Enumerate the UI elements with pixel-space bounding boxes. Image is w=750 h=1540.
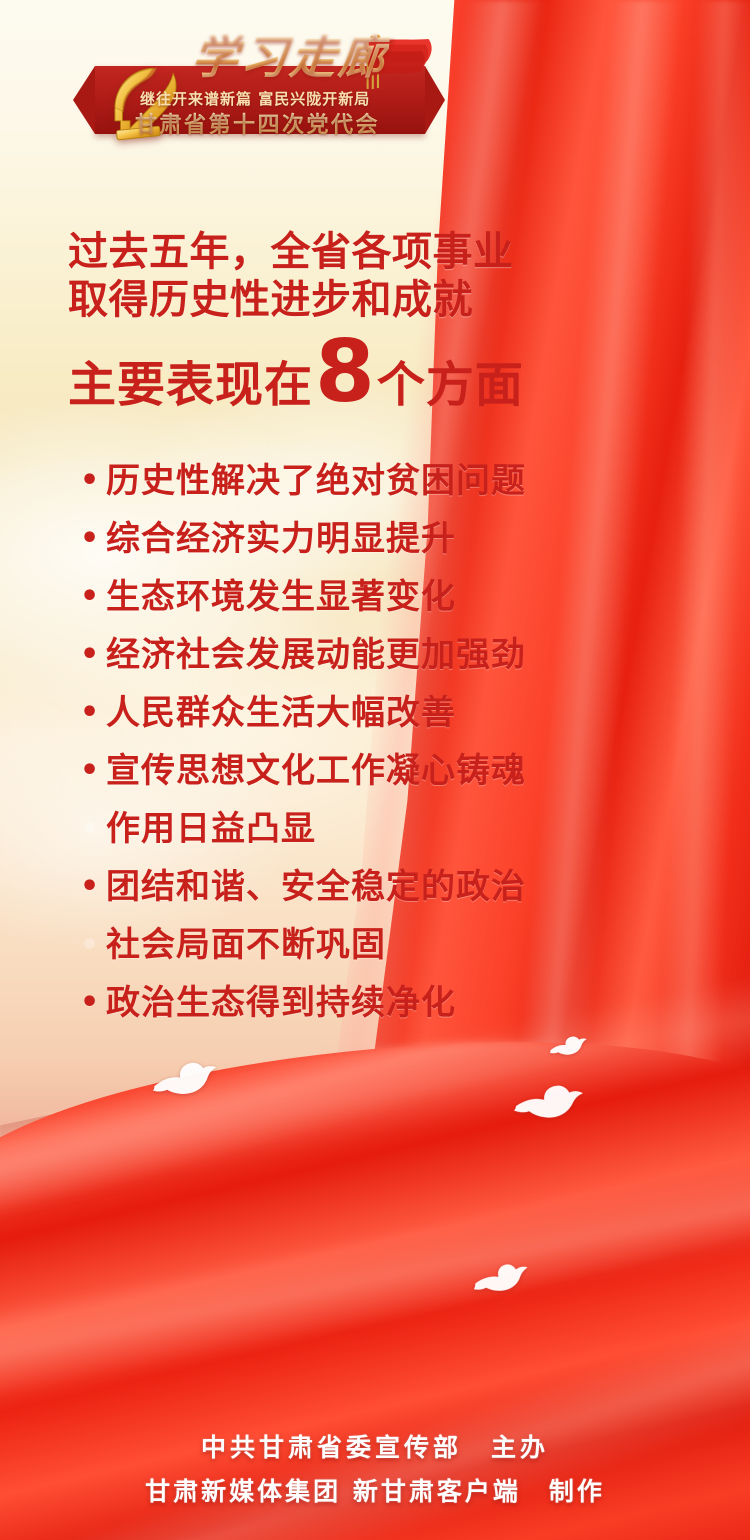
footer-line-1: 中共甘肃省委宣传部 主办	[0, 1426, 750, 1470]
list-item: •人民群众生活大幅改善	[80, 684, 640, 742]
bullet-dot-icon: •	[80, 568, 106, 626]
list-item: •历史性解决了绝对贫困问题	[80, 452, 640, 510]
bullet-dot-icon: •	[80, 684, 106, 742]
poster-root: 学习走廊 继往开来谱新篇 富民兴陇开新局 甘肃省第十四次党代会 过去五年，全省各…	[0, 0, 750, 1540]
bullet-dot-icon: •	[80, 974, 106, 1032]
bullet-dot-icon: •	[80, 742, 106, 800]
headline-block: 过去五年，全省各项事业 取得历史性进步和成就 主要表现在 8 个方面	[68, 228, 524, 415]
headline-line-2: 取得历史性进步和成就	[68, 276, 524, 324]
list-item: •团结和谐、安全稳定的政治	[80, 858, 640, 916]
list-item: •政治生态得到持续净化	[80, 974, 640, 1032]
dove-icon	[510, 1074, 591, 1130]
list-item-label: 历史性解决了绝对贫困问题	[106, 452, 526, 510]
footer-line-2: 甘肃新媒体集团 新甘肃客户端 制作	[0, 1470, 750, 1514]
list-item-label: 政治生态得到持续净化	[106, 974, 456, 1032]
list-item-label: 宣传思想文化工作凝心铸魂	[106, 742, 526, 800]
list-item: •宣传思想文化工作凝心铸魂	[80, 742, 640, 800]
banner-event-title: 甘肃省第十四次党代会	[135, 107, 380, 139]
list-item: •社会局面不断巩固	[80, 916, 640, 974]
list-item: •作用日益凸显	[80, 800, 640, 858]
list-item-label: 生态环境发生显著变化	[106, 568, 456, 626]
headline-emphasis-line: 主要表现在 8 个方面	[68, 342, 524, 415]
bullet-indent-spacer: •	[80, 800, 106, 858]
dove-icon	[150, 1056, 222, 1102]
headline-line-1: 过去五年，全省各项事业	[68, 228, 524, 276]
list-item: •生态环境发生显著变化	[80, 568, 640, 626]
bullet-dot-icon: •	[80, 858, 106, 916]
bullet-dot-icon: •	[80, 510, 106, 568]
list-item-label: 作用日益凸显	[106, 800, 316, 858]
headline-suffix: 个方面	[377, 355, 524, 415]
bullet-indent-spacer: •	[80, 916, 106, 974]
bullet-dot-icon: •	[80, 626, 106, 684]
list-item-label: 人民群众生活大幅改善	[106, 684, 456, 742]
list-item-label: 社会局面不断巩固	[106, 916, 386, 974]
footer-credits: 中共甘肃省委宣传部 主办 甘肃新媒体集团 新甘肃客户端 制作	[0, 1426, 750, 1514]
calligraphy-title: 学习走廊	[190, 34, 391, 80]
dove-icon	[469, 1256, 534, 1300]
headline-number: 8	[315, 342, 375, 402]
list-item-label: 经济社会发展动能更加强劲	[106, 626, 526, 684]
header-banner: 学习走廊 继往开来谱新篇 富民兴陇开新局 甘肃省第十四次党代会	[0, 0, 750, 170]
list-item-label: 团结和谐、安全稳定的政治	[106, 858, 526, 916]
bullet-dot-icon: •	[80, 452, 106, 510]
list-item-label: 综合经济实力明显提升	[106, 510, 456, 568]
dove-icon	[548, 1032, 590, 1060]
headline-prefix: 主要表现在	[68, 355, 313, 415]
sun-glow	[60, 1208, 405, 1328]
banner-subtitle: 继往开来谱新篇 富民兴陇开新局	[140, 88, 370, 109]
list-item: •经济社会发展动能更加强劲	[80, 626, 640, 684]
list-item: •综合经济实力明显提升	[80, 510, 640, 568]
bullet-list: •历史性解决了绝对贫困问题•综合经济实力明显提升•生态环境发生显著变化•经济社会…	[80, 452, 640, 1032]
